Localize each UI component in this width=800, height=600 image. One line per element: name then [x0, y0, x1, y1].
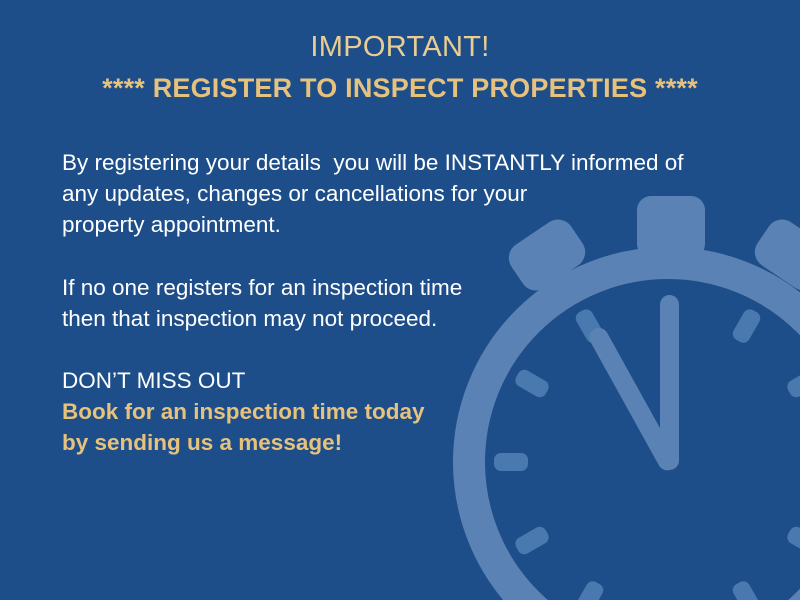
paragraph-line: If no one registers for an inspection ti… — [62, 272, 462, 303]
cta-message-line: by sending us a message! — [62, 427, 425, 458]
paragraph-line: property appointment. — [62, 209, 684, 240]
cta-headline: DON’T MISS OUT — [62, 365, 425, 396]
call-to-action-block: DON’T MISS OUT Book for an inspection ti… — [62, 365, 425, 458]
cta-book-line: Book for an inspection time today — [62, 396, 425, 427]
paragraph-no-registration-warning: If no one registers for an inspection ti… — [62, 272, 462, 334]
paragraph-registering-details: By registering your details you will be … — [62, 147, 684, 240]
paragraph-line: By registering your details you will be … — [62, 147, 684, 178]
slide-canvas: IMPORTANT! **** REGISTER TO INSPECT PROP… — [0, 0, 800, 600]
page-subtitle: **** REGISTER TO INSPECT PROPERTIES **** — [0, 74, 800, 104]
paragraph-line: then that inspection may not proceed. — [62, 303, 462, 334]
paragraph-line: any updates, changes or cancellations fo… — [62, 178, 684, 209]
slide-text-content: IMPORTANT! **** REGISTER TO INSPECT PROP… — [0, 0, 800, 600]
page-title: IMPORTANT! — [0, 32, 800, 64]
